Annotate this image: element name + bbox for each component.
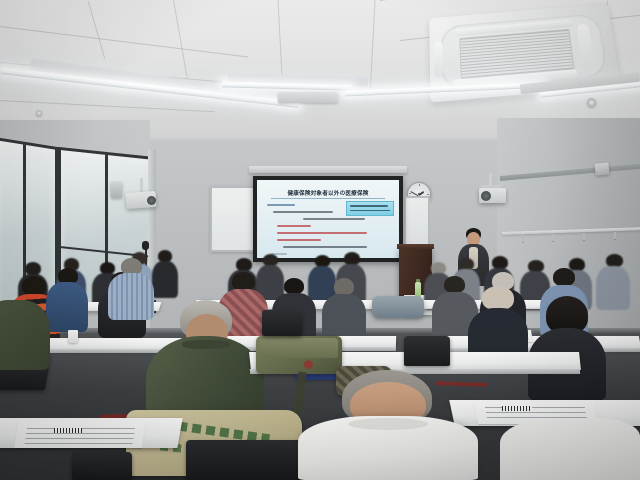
attendee bbox=[528, 296, 606, 400]
speaker bbox=[111, 182, 122, 198]
slide-body-line bbox=[273, 211, 333, 213]
bag-logo-patch bbox=[304, 360, 313, 369]
tshirt-collar bbox=[348, 418, 428, 430]
coat-hook bbox=[522, 235, 524, 242]
green-messenger-bag bbox=[256, 336, 342, 374]
slide-body-line bbox=[277, 239, 321, 241]
slide-body-line bbox=[303, 218, 365, 220]
projection-screen-housing bbox=[249, 166, 407, 173]
speaker bbox=[594, 162, 609, 175]
slide-content: 健康保険対象者以外の医療保険 bbox=[257, 180, 399, 258]
paper-cup bbox=[68, 330, 78, 343]
sprinkler-head bbox=[587, 98, 596, 107]
slide-body-line bbox=[283, 246, 367, 248]
slide-title: 健康保険対象者以外の医療保険 bbox=[287, 189, 368, 197]
attendee bbox=[500, 418, 640, 480]
projector-lens bbox=[147, 196, 156, 205]
whiteboard bbox=[404, 196, 430, 246]
chair bbox=[72, 452, 132, 480]
attendee-hair bbox=[22, 276, 46, 296]
chair bbox=[262, 310, 302, 336]
bag-flap bbox=[260, 338, 338, 358]
attendee-torso bbox=[0, 300, 50, 370]
slide-body-line bbox=[277, 225, 311, 227]
microphone-head bbox=[142, 241, 149, 250]
handout-barcode bbox=[54, 428, 82, 433]
travel-pouch bbox=[372, 296, 424, 318]
slide-callout-box bbox=[346, 201, 394, 216]
jacket-collar bbox=[182, 340, 230, 349]
coat-hook bbox=[614, 232, 616, 239]
attendee bbox=[322, 278, 366, 342]
handout-paper bbox=[14, 422, 146, 448]
attendee bbox=[46, 268, 88, 332]
coat-hook bbox=[583, 233, 585, 240]
attendee-torso bbox=[500, 418, 640, 480]
slide-body-line bbox=[267, 204, 295, 206]
handout-barcode bbox=[502, 406, 532, 411]
whiteboard bbox=[210, 186, 256, 252]
chair bbox=[404, 336, 450, 366]
ceiling-speaker-panel bbox=[278, 92, 338, 103]
attendee bbox=[0, 300, 50, 370]
slide-title-rule bbox=[271, 198, 385, 199]
slide-body-line bbox=[277, 232, 367, 234]
coat-hook bbox=[552, 234, 554, 241]
lecture-room-photo: 健康保険対象者以外の医療保険 bbox=[0, 0, 640, 480]
sprinkler-head bbox=[36, 110, 42, 116]
projector-lens bbox=[481, 191, 491, 201]
projection-screen: 健康保険対象者以外の医療保険 bbox=[253, 176, 403, 262]
attendee-white-tshirt bbox=[298, 388, 478, 480]
attendee bbox=[152, 250, 178, 298]
